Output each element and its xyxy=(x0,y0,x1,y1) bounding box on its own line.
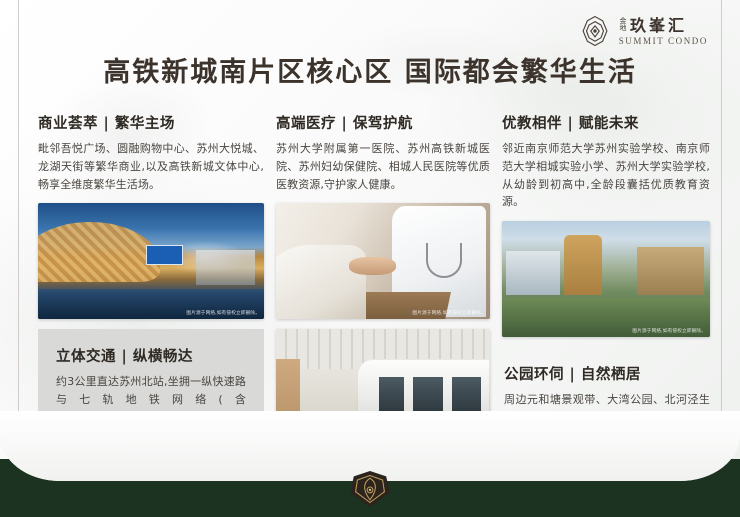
brochure-page: 金地 玖峯汇 SUMMIT CONDO 高铁新城南片区核心区 国际都会繁华生活 … xyxy=(0,0,740,517)
block-title-transport: 立体交通 | 纵横畅达 xyxy=(56,345,246,366)
train-window-shape xyxy=(413,377,443,414)
octagon-diamond-emblem-icon xyxy=(578,14,612,48)
logo-brand-name: 玖峯汇 xyxy=(630,18,687,34)
led-screen-shape xyxy=(146,245,182,265)
block-title-education: 优教相伴 | 赋能未来 xyxy=(502,112,710,133)
patient-shape xyxy=(276,245,366,319)
school-campus-aerial-photo: 图片源于网络,如有侵权立即删除。 xyxy=(502,221,710,337)
photo-caption: 图片源于网络,如有侵权立即删除。 xyxy=(632,328,706,334)
brand-logo: 金地 玖峯汇 SUMMIT CONDO xyxy=(578,14,708,48)
block-title-commerce: 商业荟萃 | 繁华主场 xyxy=(38,112,264,133)
page-title: 高铁新城南片区核心区 国际都会繁华生活 xyxy=(0,50,740,89)
dome-shape xyxy=(38,222,160,282)
block-title-medical: 高端医疗 | 保驾护航 xyxy=(276,112,490,133)
campus-building-right-shape xyxy=(637,247,704,296)
block-body-education: 邻近南京师范大学苏州实验学校、南京师范大学相城实验小学、苏州大学实验学校,从幼龄… xyxy=(502,140,710,211)
block-body-medical: 苏州大学附属第一医院、苏州高铁新城医院、苏州妇幼保健院、相城人民医院等优质医教资… xyxy=(276,140,490,193)
hands-shape xyxy=(349,257,396,276)
logo-brand-en: SUMMIT CONDO xyxy=(619,37,708,46)
doctor-consultation-photo: 图片源于网络,如有侵权立即删除。 xyxy=(276,203,490,319)
train-window-shape xyxy=(452,377,482,414)
block-title-park: 公园环伺 | 自然栖居 xyxy=(504,363,710,384)
logo-brand-prefix: 金地 xyxy=(619,17,626,34)
clock-tower-shape xyxy=(564,235,601,295)
photo-caption: 图片源于网络,如有侵权立即删除。 xyxy=(412,310,486,316)
footer-ornament-icon xyxy=(343,467,397,511)
photo-caption: 图片源于网络,如有侵权立即删除。 xyxy=(186,310,260,316)
campus-building-left-shape xyxy=(506,251,560,295)
block-body-commerce: 毗邻吾悦广场、圆融购物中心、苏州大悦城、龙湖天街等繁华商业,以及高铁新城文体中心… xyxy=(38,140,264,193)
stethoscope-icon xyxy=(426,243,462,278)
stadium-mall-night-photo: 图片源于网络,如有侵权立即删除。 xyxy=(38,203,264,319)
train-window-shape xyxy=(379,377,405,414)
building-shape xyxy=(196,250,255,285)
